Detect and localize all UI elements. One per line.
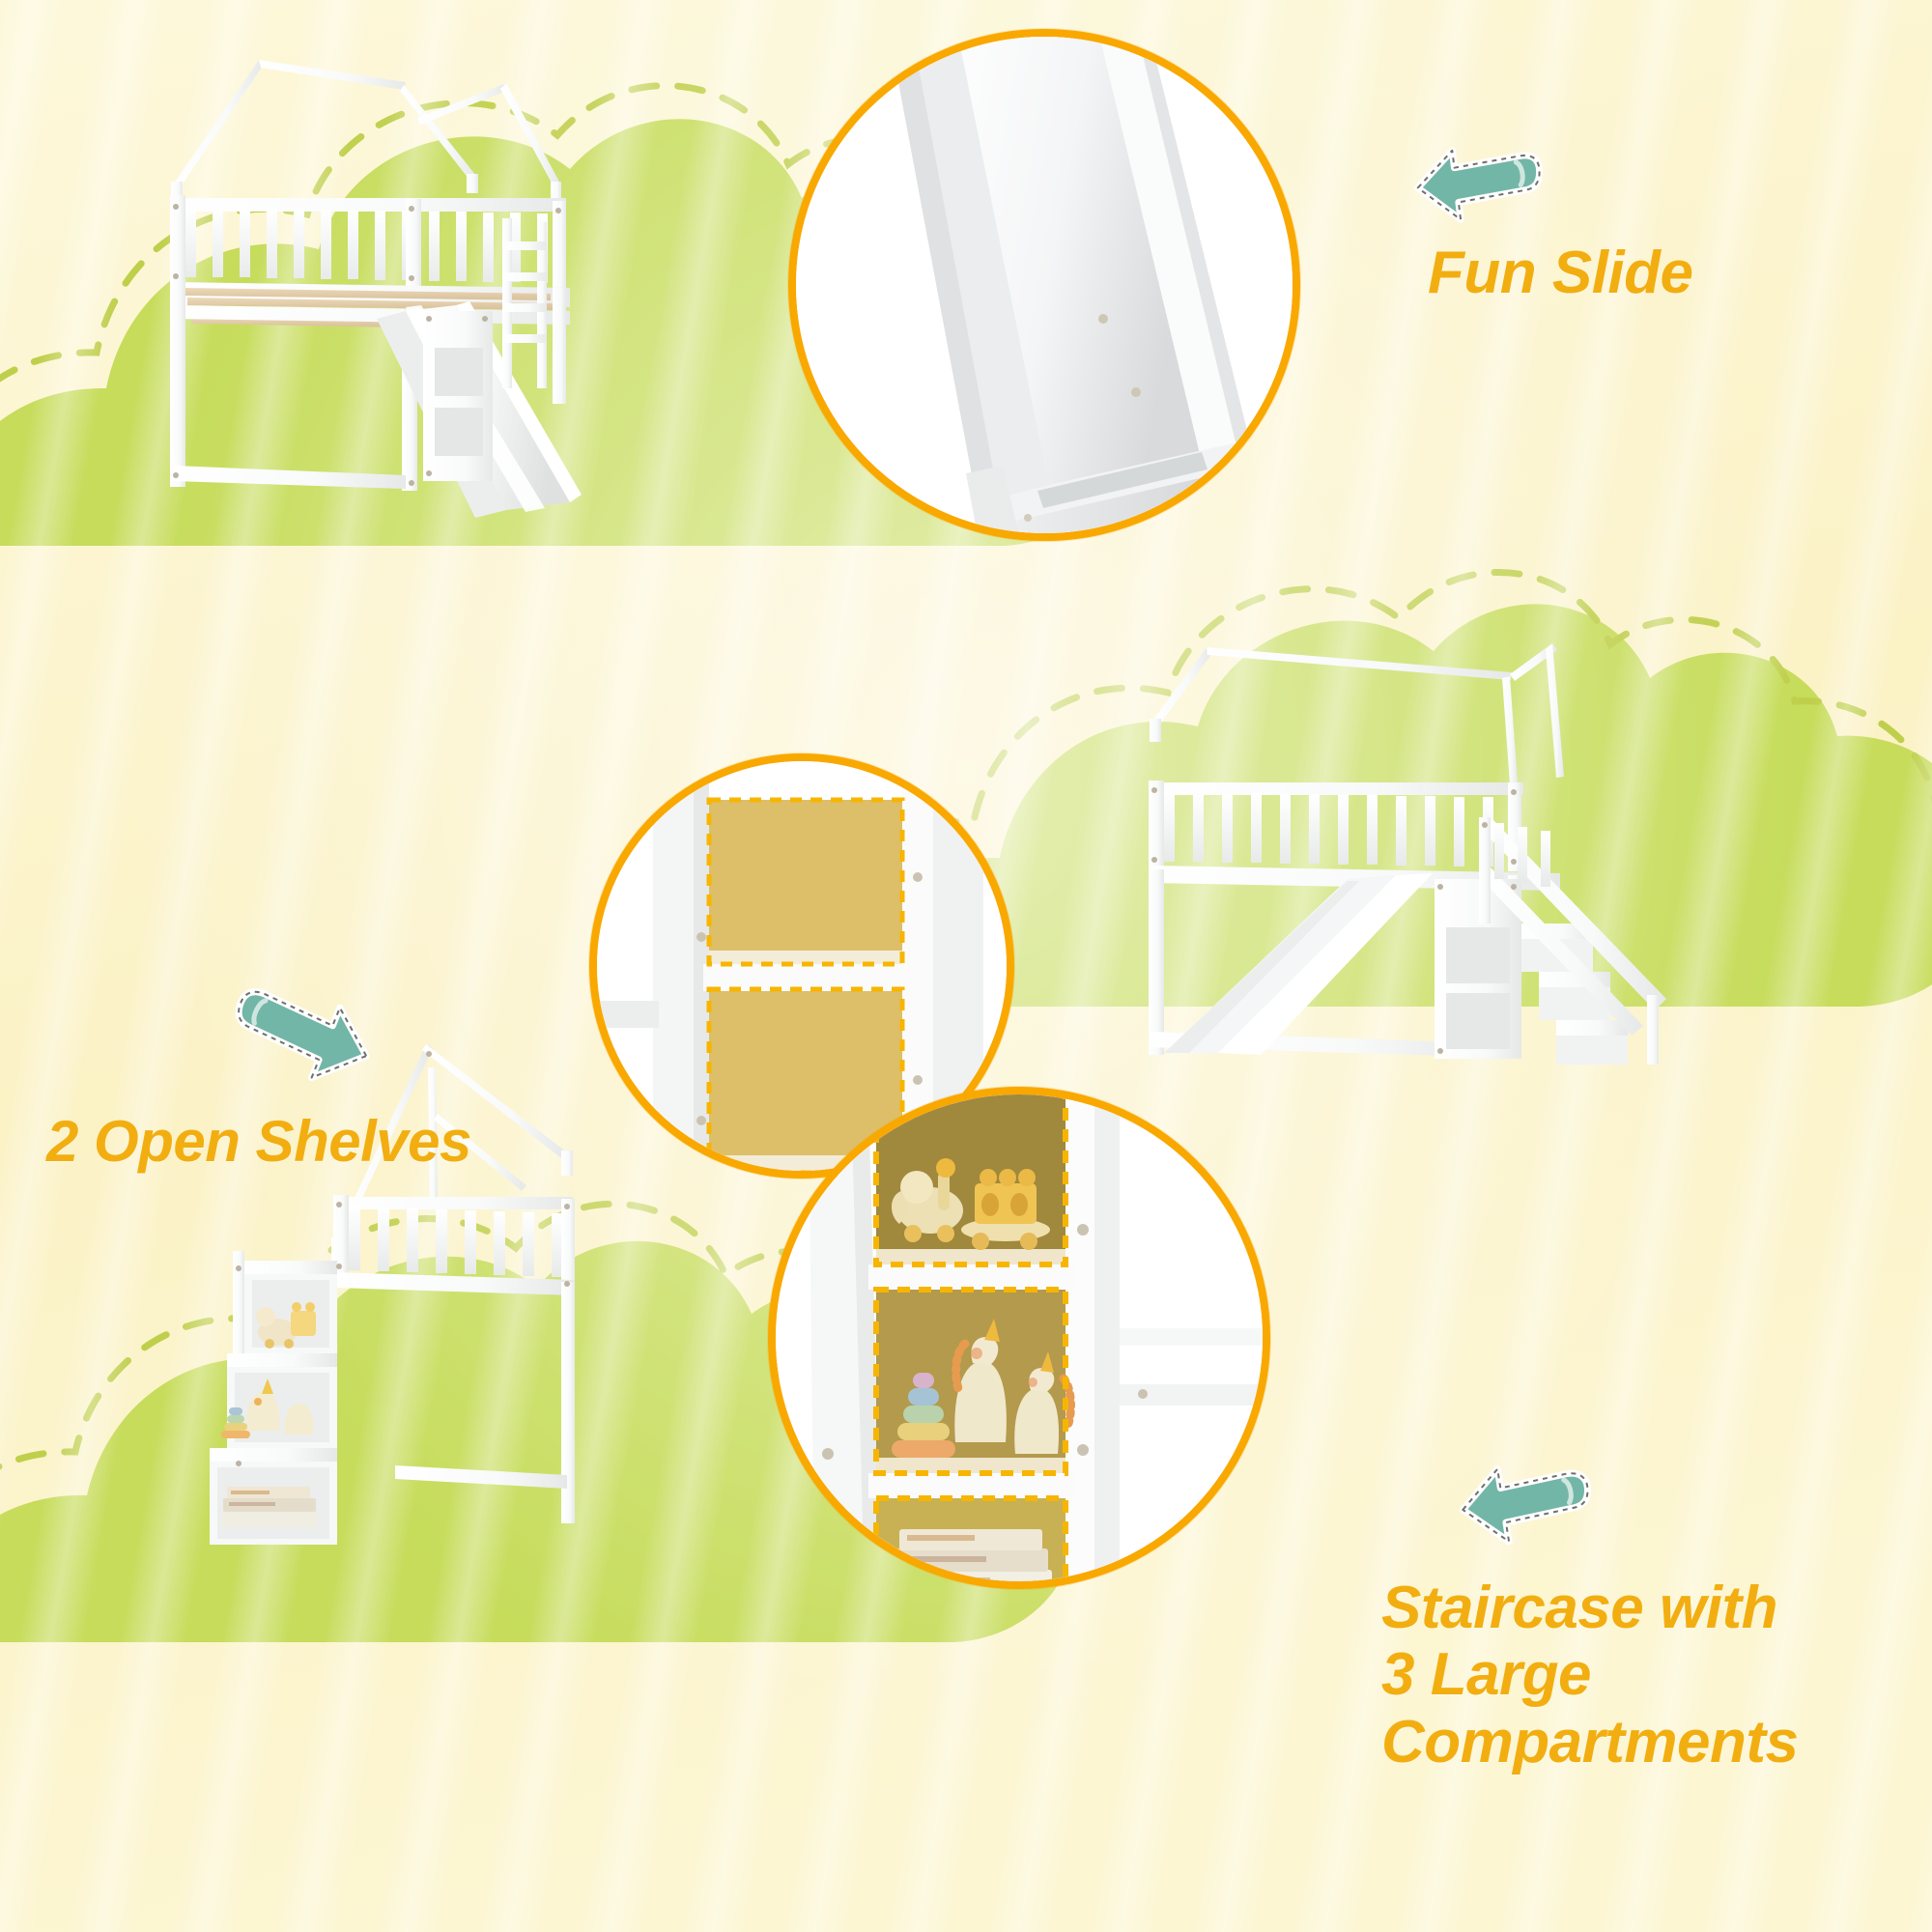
compartments-closeup-illustration xyxy=(776,1094,1270,1589)
callout-staircase-line-1: Staircase with xyxy=(1381,1575,1799,1641)
bed-illustration-2 xyxy=(1106,638,1802,1082)
callout-staircase-line-2: 3 Large xyxy=(1381,1641,1799,1708)
callout-fun-slide-line-1: Fun Slide xyxy=(1428,240,1693,306)
toy-picture-books xyxy=(890,1529,1052,1589)
arrow-right-icon xyxy=(198,961,411,1096)
slide-closeup-illustration xyxy=(796,37,1300,541)
callout-staircase-line-3: Compartments xyxy=(1381,1709,1799,1776)
zoom-circle-slide-closeup xyxy=(788,29,1300,541)
product-view-full-bed-slide-right xyxy=(1106,638,1802,1082)
product-view-full-bed-slide-left xyxy=(116,29,657,531)
callout-staircase-compartments: Staircase with 3 Large Compartments xyxy=(1381,1575,1799,1776)
callout-fun-slide: Fun Slide xyxy=(1428,240,1693,306)
zoom-circle-compartments-closeup xyxy=(768,1087,1270,1589)
callout-open-shelves: 2 Open Shelves xyxy=(46,1109,471,1174)
callout-open-shelves-line-1: 2 Open Shelves xyxy=(46,1109,471,1174)
bed-illustration-1 xyxy=(116,29,657,531)
arrow-left-icon xyxy=(1406,1420,1628,1575)
arrow-left-icon xyxy=(1348,106,1589,251)
